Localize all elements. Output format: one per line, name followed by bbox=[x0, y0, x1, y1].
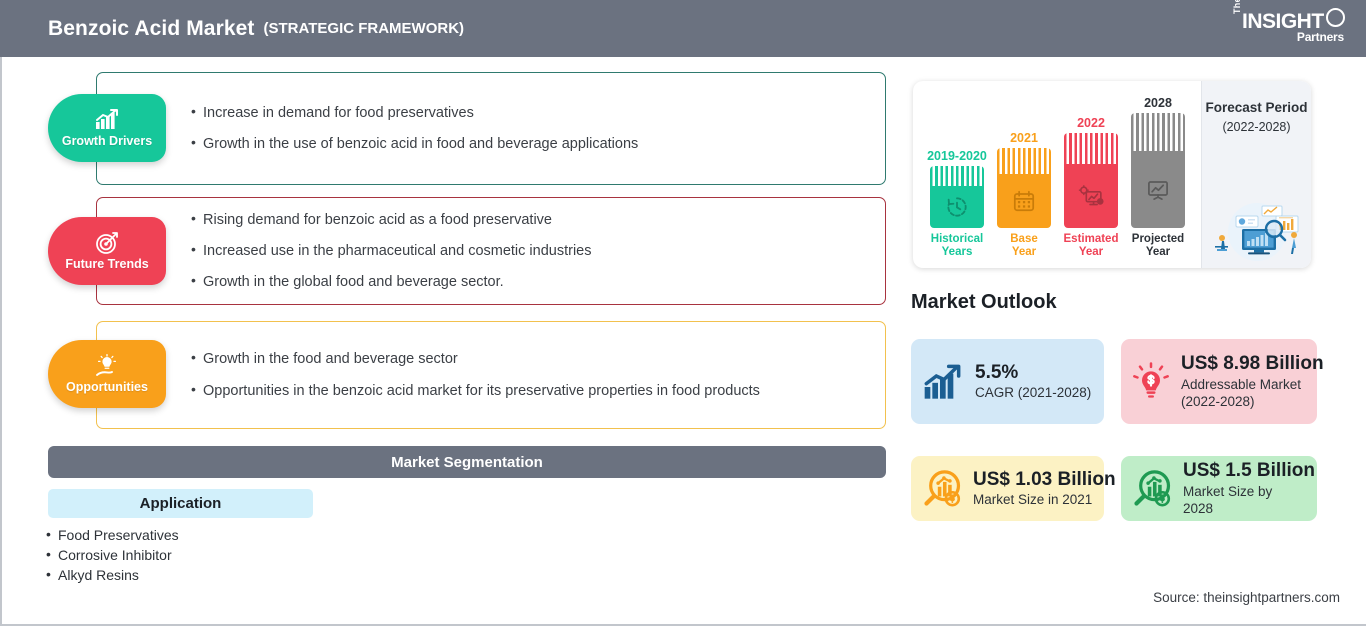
chart-bar-estimated: 2022 Estimated Year bbox=[1064, 133, 1118, 228]
pillar-item-list: Increase in demand for food preservative… bbox=[191, 72, 872, 185]
bar-solid-section bbox=[1131, 151, 1185, 228]
list-item: Increased use in the pharmaceutical and … bbox=[191, 242, 872, 260]
outlook-card-value: 5.5% bbox=[975, 362, 1091, 384]
magnifier-chart-dollar-icon bbox=[921, 468, 963, 510]
badge-future-trends[interactable]: Future Trends bbox=[48, 217, 166, 285]
badge-growth-drivers[interactable]: Growth Drivers bbox=[48, 94, 166, 162]
magnifier-chart-dollar-icon bbox=[1131, 468, 1173, 510]
list-item: Rising demand for benzoic acid as a food… bbox=[191, 211, 872, 229]
outlook-card-market-size-2021[interactable]: US$ 1.03 Billion Market Size in 2021 bbox=[911, 456, 1104, 521]
bar-chart-arrow-icon bbox=[94, 108, 120, 132]
source-attribution: Source: theinsightpartners.com bbox=[1153, 590, 1340, 605]
clock-history-icon bbox=[944, 194, 970, 220]
outlook-card-label: Market Size by 2028 bbox=[1183, 483, 1295, 517]
outlook-card-value: US$ 8.98 Billion bbox=[1181, 353, 1324, 375]
outlook-card-cagr[interactable]: 5.5% CAGR (2021-2028) bbox=[911, 339, 1104, 424]
outlook-card-market-size-2028[interactable]: US$ 1.5 Billion Market Size by 2028 bbox=[1121, 456, 1317, 521]
outlook-card-text: 5.5% CAGR (2021-2028) bbox=[975, 362, 1091, 402]
analytics-gear-icon bbox=[1078, 183, 1105, 209]
bar-year-label: 2021 bbox=[1010, 131, 1038, 145]
pillar-item-list: Rising demand for benzoic acid as a food… bbox=[191, 197, 872, 305]
infographic-page: Benzoic Acid Market (STRATEGIC FRAMEWORK… bbox=[0, 0, 1366, 626]
bar-column bbox=[997, 148, 1051, 228]
segmentation-item-list: Food Preservatives Corrosive Inhibitor A… bbox=[46, 525, 546, 585]
list-item: Growth in the global food and beverage s… bbox=[191, 273, 872, 291]
bar-year-label: 2019-2020 bbox=[927, 149, 987, 163]
bar-solid-section bbox=[930, 186, 984, 228]
logo-loop-icon bbox=[1326, 8, 1345, 27]
chart-bars: 2019-2020 Historical Years 2021 bbox=[913, 81, 1193, 268]
bar-solid-section bbox=[1064, 164, 1118, 228]
pillar-future-trends: Future Trends Rising demand for benzoic … bbox=[96, 197, 886, 305]
outlook-card-addressable-market[interactable]: US$ 8.98 Billion Addressable Market (202… bbox=[1121, 339, 1317, 424]
bar-year-label: 2022 bbox=[1077, 116, 1105, 130]
market-segmentation-header: Market Segmentation bbox=[48, 446, 886, 478]
outlook-card-text: US$ 1.5 Billion Market Size by 2028 bbox=[1183, 460, 1315, 517]
forecast-title: Forecast Period bbox=[1202, 99, 1311, 116]
lightbulb-dollar-icon bbox=[1131, 362, 1171, 402]
bar-column bbox=[1131, 113, 1185, 228]
lightbulb-hand-icon bbox=[94, 354, 120, 378]
bar-category-label: Base Year bbox=[1010, 233, 1038, 259]
forecast-period-panel: Forecast Period (2022-2028) bbox=[1201, 81, 1311, 268]
bar-category-label: Projected Year bbox=[1132, 233, 1184, 259]
bar-year-label: 2028 bbox=[1144, 96, 1172, 110]
growth-bar-chart-icon bbox=[921, 362, 965, 402]
insight-partners-logo: The INSIGHT Partners bbox=[1230, 8, 1350, 50]
pillar-item-list: Growth in the food and beverage sector O… bbox=[191, 321, 872, 429]
page-title: Benzoic Acid Market bbox=[48, 17, 255, 41]
pillar-growth-drivers: Growth Drivers Increase in demand for fo… bbox=[96, 72, 886, 185]
list-item: Alkyd Resins bbox=[46, 565, 546, 585]
bar-stripe-section bbox=[997, 148, 1051, 174]
bar-stripe-section bbox=[1131, 113, 1185, 151]
outlook-card-label: CAGR (2021-2028) bbox=[975, 384, 1091, 401]
badge-opportunities[interactable]: Opportunities bbox=[48, 340, 166, 408]
forecast-range: (2022-2028) bbox=[1202, 120, 1311, 134]
bar-solid-section bbox=[997, 174, 1051, 228]
bar-column bbox=[1064, 133, 1118, 228]
outlook-card-value: US$ 1.03 Billion bbox=[973, 469, 1116, 491]
page-header: Benzoic Acid Market (STRATEGIC FRAMEWORK… bbox=[0, 0, 1366, 57]
bar-category-label: Historical Years bbox=[931, 233, 983, 259]
outlook-card-text: US$ 1.03 Billion Market Size in 2021 bbox=[973, 469, 1116, 509]
list-item: Increase in demand for food preservative… bbox=[191, 104, 872, 122]
chart-bar-historical: 2019-2020 Historical Years bbox=[930, 166, 984, 228]
business-analytics-illustration bbox=[1206, 202, 1308, 262]
badge-label: Growth Drivers bbox=[62, 134, 152, 148]
badge-label: Future Trends bbox=[65, 257, 148, 271]
list-item: Opportunities in the benzoic acid market… bbox=[191, 382, 872, 400]
pillar-opportunities: Opportunities Growth in the food and bev… bbox=[96, 321, 886, 429]
logo-the-text: The bbox=[1232, 0, 1242, 14]
outlook-card-value: US$ 1.5 Billion bbox=[1183, 460, 1315, 482]
outlook-card-text: US$ 8.98 Billion Addressable Market (202… bbox=[1181, 353, 1324, 410]
forecast-period-chart: 2019-2020 Historical Years 2021 bbox=[913, 81, 1311, 268]
list-item: Food Preservatives bbox=[46, 525, 546, 545]
presentation-chart-icon bbox=[1145, 177, 1171, 203]
chart-bar-base: 2021 B bbox=[997, 148, 1051, 228]
bar-category-label: Estimated Year bbox=[1064, 233, 1119, 259]
target-dart-icon bbox=[94, 231, 120, 255]
outlook-card-label: Market Size in 2021 bbox=[973, 491, 1116, 508]
outlook-card-label: Addressable Market (2022-2028) bbox=[1181, 376, 1306, 410]
segmentation-application-tab[interactable]: Application bbox=[48, 489, 313, 518]
calendar-icon bbox=[1011, 188, 1037, 214]
market-outlook-title: Market Outlook bbox=[911, 291, 1057, 314]
chart-bar-projected: 2028 Projected Year bbox=[1131, 113, 1185, 228]
badge-label: Opportunities bbox=[66, 380, 148, 394]
page-subtitle: (STRATEGIC FRAMEWORK) bbox=[264, 20, 465, 37]
bar-stripe-section bbox=[930, 166, 984, 186]
bar-column bbox=[930, 166, 984, 228]
list-item: Growth in the use of benzoic acid in foo… bbox=[191, 135, 872, 153]
logo-partners-text: Partners bbox=[1297, 30, 1344, 44]
bar-stripe-section bbox=[1064, 133, 1118, 164]
list-item: Growth in the food and beverage sector bbox=[191, 350, 872, 368]
list-item: Corrosive Inhibitor bbox=[46, 545, 546, 565]
